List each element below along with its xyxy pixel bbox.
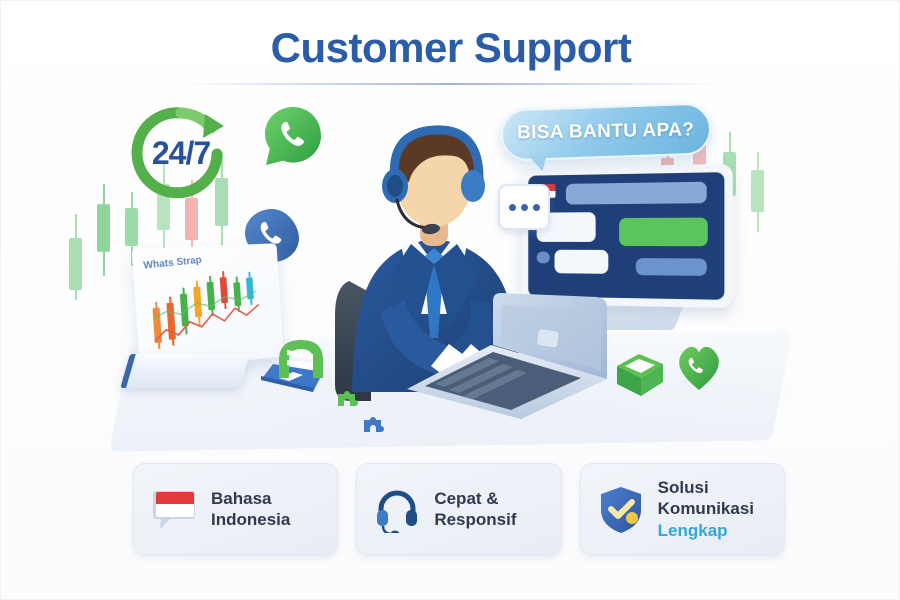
laptop-logo [537,329,559,348]
poster-canvas: Customer Support [0,0,900,600]
feature-line-3: Lengkap [658,520,754,541]
feature-line-1: Solusi [658,477,754,498]
chat-bubble-incoming [566,182,707,205]
background-candlestick [751,152,764,232]
laptop [401,291,616,421]
feature-card-bahasa-indonesia[interactable]: Bahasa Indonesia [133,463,338,555]
feature-label: Cepat & Responsif [434,488,516,531]
feature-card-cepat-responsif[interactable]: Cepat & Responsif [356,463,561,555]
email-icon [613,352,667,400]
candlestick-chart [148,271,272,352]
chat-screen [528,172,724,300]
phone-heart-icon [673,340,725,392]
chat-monitor [521,164,733,308]
chart-tablet: Whats Strap [132,243,284,371]
headset-icon [373,485,421,533]
notebook [120,354,250,388]
feature-label: Solusi Komunikasi Lengkap [658,477,754,541]
green-arch-object [273,336,333,380]
chat-bubble-white [555,250,609,274]
trend-line [148,271,272,352]
headset-earcup [461,170,485,202]
tablet-chart-title: Whats Strap [143,248,269,272]
page-title: Customer Support [1,25,900,71]
puzzle-piece-blue [359,414,385,441]
feature-card-solusi-komunikasi[interactable]: Solusi Komunikasi Lengkap [580,463,785,555]
feature-line-1: Cepat & [434,488,516,509]
puzzle-piece-green [333,388,359,415]
feature-line-2: Komunikasi [658,498,754,519]
feature-card-row: Bahasa Indonesia Cepat & Responsif [133,463,785,555]
title-block: Customer Support [1,25,900,85]
feature-label: Bahasa Indonesia [211,488,290,531]
feature-line-1: Bahasa [211,488,290,509]
shield-check-icon [597,485,645,533]
whatsapp-icon [261,104,325,168]
background-candlestick [69,214,82,300]
feature-line-2: Responsif [434,509,516,530]
illustration-scene: BISA BANTU APA? 24/7 [61,96,841,446]
flag-speech-bubble-icon [150,485,198,533]
badge-247: 24/7 [131,104,231,202]
title-divider [181,83,721,85]
background-candlestick [97,184,110,276]
badge-247-text: 24/7 [131,104,231,202]
feature-line-2: Indonesia [211,509,290,530]
chat-bubble-incoming [636,258,707,276]
chat-bubble-outgoing [619,218,708,247]
